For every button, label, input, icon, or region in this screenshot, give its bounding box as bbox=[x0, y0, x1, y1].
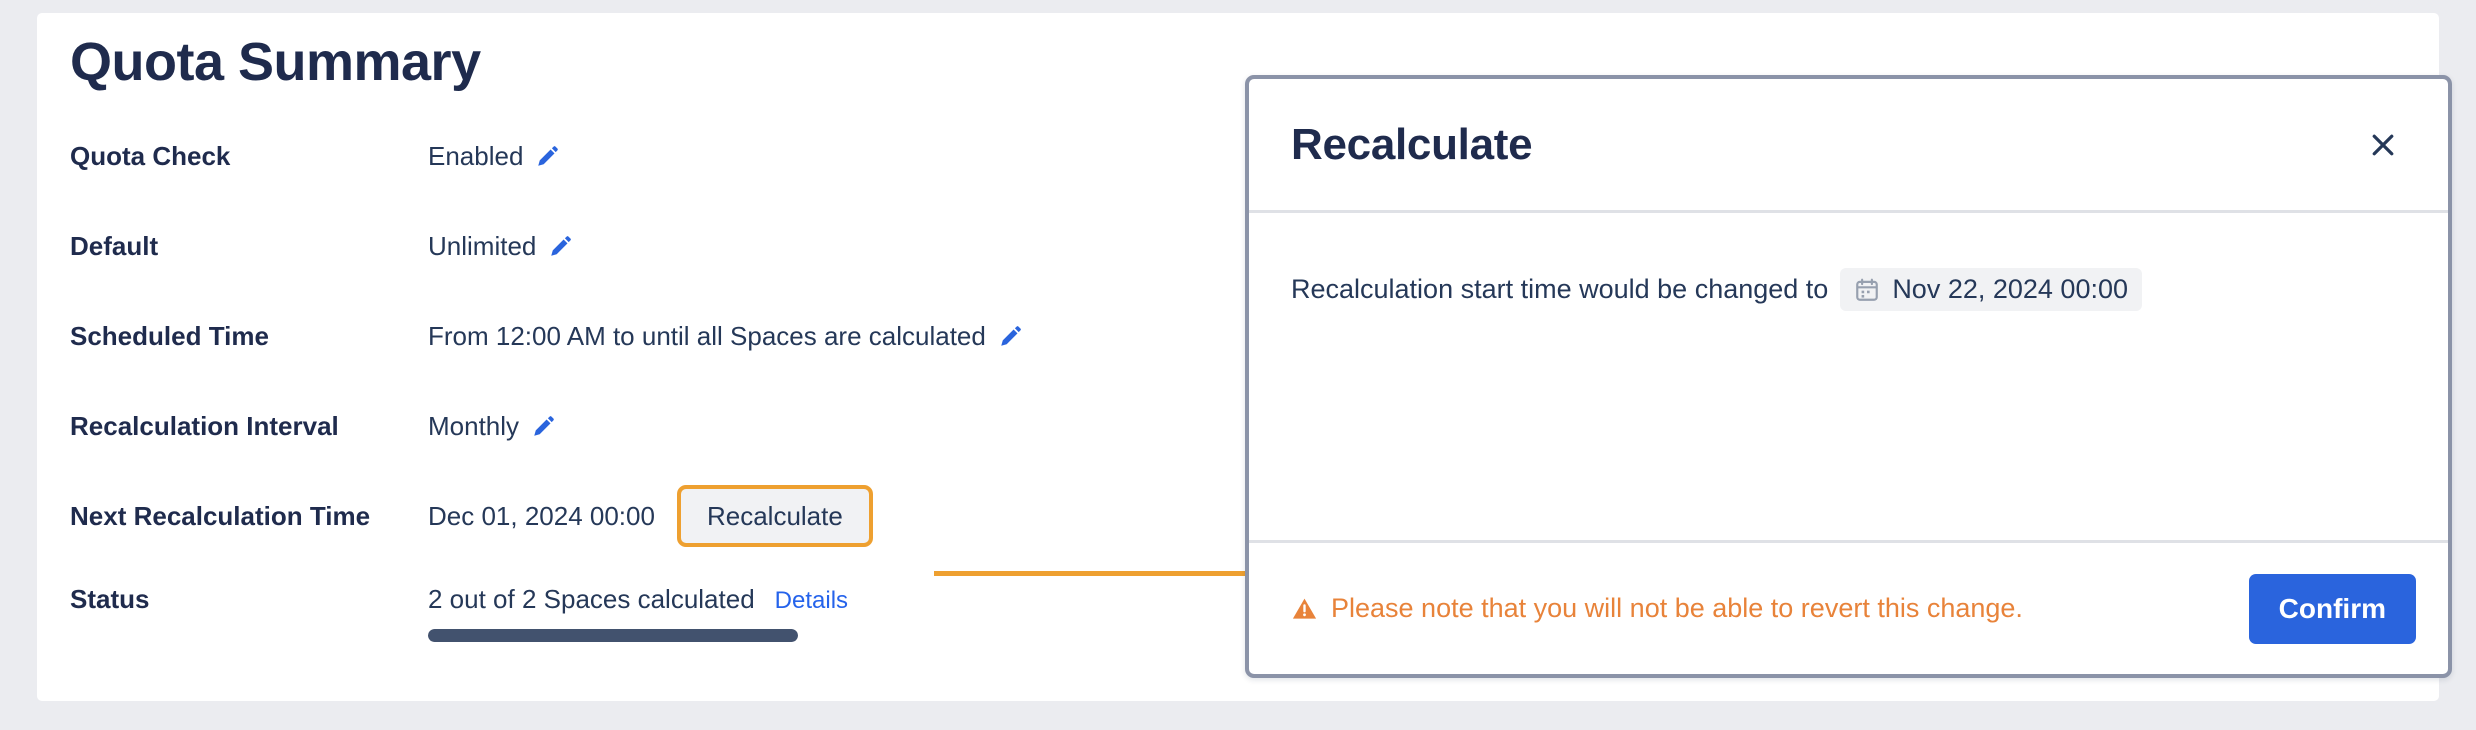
row-value: Enabled bbox=[428, 141, 561, 172]
date-chip-value: Nov 22, 2024 00:00 bbox=[1892, 274, 2128, 305]
summary-row-status: Status 2 out of 2 Spaces calculated Deta… bbox=[70, 584, 1220, 642]
row-value-text: Monthly bbox=[428, 411, 519, 442]
row-label: Scheduled Time bbox=[70, 321, 428, 352]
row-value: Dec 01, 2024 00:00 Recalculate bbox=[428, 485, 873, 547]
row-value-text: Dec 01, 2024 00:00 bbox=[428, 501, 655, 532]
close-icon[interactable] bbox=[2356, 118, 2410, 172]
modal-footer: Please note that you will not be able to… bbox=[1249, 543, 2448, 674]
recalculate-button[interactable]: Recalculate bbox=[677, 485, 873, 547]
status-column: 2 out of 2 Spaces calculated Details bbox=[428, 584, 848, 642]
details-link[interactable]: Details bbox=[775, 587, 848, 615]
modal-title: Recalculate bbox=[1291, 120, 1532, 170]
calendar-icon bbox=[1854, 277, 1880, 303]
row-label: Quota Check bbox=[70, 141, 428, 172]
row-value-text: Enabled bbox=[428, 141, 523, 172]
summary-row-default: Default Unlimited bbox=[70, 224, 1220, 268]
warning-message: Please note that you will not be able to… bbox=[1291, 593, 2023, 624]
row-value: Unlimited bbox=[428, 231, 574, 262]
pencil-icon[interactable] bbox=[535, 143, 561, 169]
status-line: 2 out of 2 Spaces calculated Details bbox=[428, 584, 848, 615]
row-value-text: Unlimited bbox=[428, 231, 536, 262]
summary-row-next-recalculation-time: Next Recalculation Time Dec 01, 2024 00:… bbox=[70, 494, 1220, 538]
row-label: Default bbox=[70, 231, 428, 262]
status-progress-bar bbox=[428, 629, 798, 642]
warning-text: Please note that you will not be able to… bbox=[1331, 593, 2023, 624]
modal-body-line: Recalculation start time would be change… bbox=[1291, 268, 2406, 311]
summary-row-scheduled-time: Scheduled Time From 12:00 AM to until al… bbox=[70, 314, 1220, 358]
pencil-icon[interactable] bbox=[548, 233, 574, 259]
quota-summary-panel: Quota Summary Quota Check Enabled Defaul… bbox=[70, 33, 1220, 642]
status-text: 2 out of 2 Spaces calculated bbox=[428, 584, 755, 615]
row-value-text: From 12:00 AM to until all Spaces are ca… bbox=[428, 321, 986, 352]
pencil-icon[interactable] bbox=[998, 323, 1024, 349]
modal-header: Recalculate bbox=[1249, 79, 2448, 213]
recalculate-modal: Recalculate Recalculation start time wou… bbox=[1245, 75, 2452, 678]
warning-icon bbox=[1291, 595, 1318, 622]
summary-row-quota-check: Quota Check Enabled bbox=[70, 134, 1220, 178]
modal-body-text: Recalculation start time would be change… bbox=[1291, 274, 1828, 305]
row-value: Monthly bbox=[428, 411, 557, 442]
status-progress-fill bbox=[428, 629, 798, 642]
row-label: Next Recalculation Time bbox=[70, 501, 428, 532]
callout-connector-line bbox=[934, 571, 1249, 576]
recalculate-button-wrapper: Recalculate bbox=[677, 485, 873, 547]
row-label: Status bbox=[70, 584, 428, 615]
confirm-button[interactable]: Confirm bbox=[2249, 574, 2416, 644]
quota-summary-card: Quota Summary Quota Check Enabled Defaul… bbox=[37, 13, 2439, 701]
pencil-icon[interactable] bbox=[531, 413, 557, 439]
row-value: From 12:00 AM to until all Spaces are ca… bbox=[428, 321, 1024, 352]
row-label: Recalculation Interval bbox=[70, 411, 428, 442]
summary-row-recalculation-interval: Recalculation Interval Monthly bbox=[70, 404, 1220, 448]
page-title: Quota Summary bbox=[70, 33, 1220, 92]
modal-body: Recalculation start time would be change… bbox=[1249, 213, 2448, 543]
date-chip[interactable]: Nov 22, 2024 00:00 bbox=[1840, 268, 2142, 311]
